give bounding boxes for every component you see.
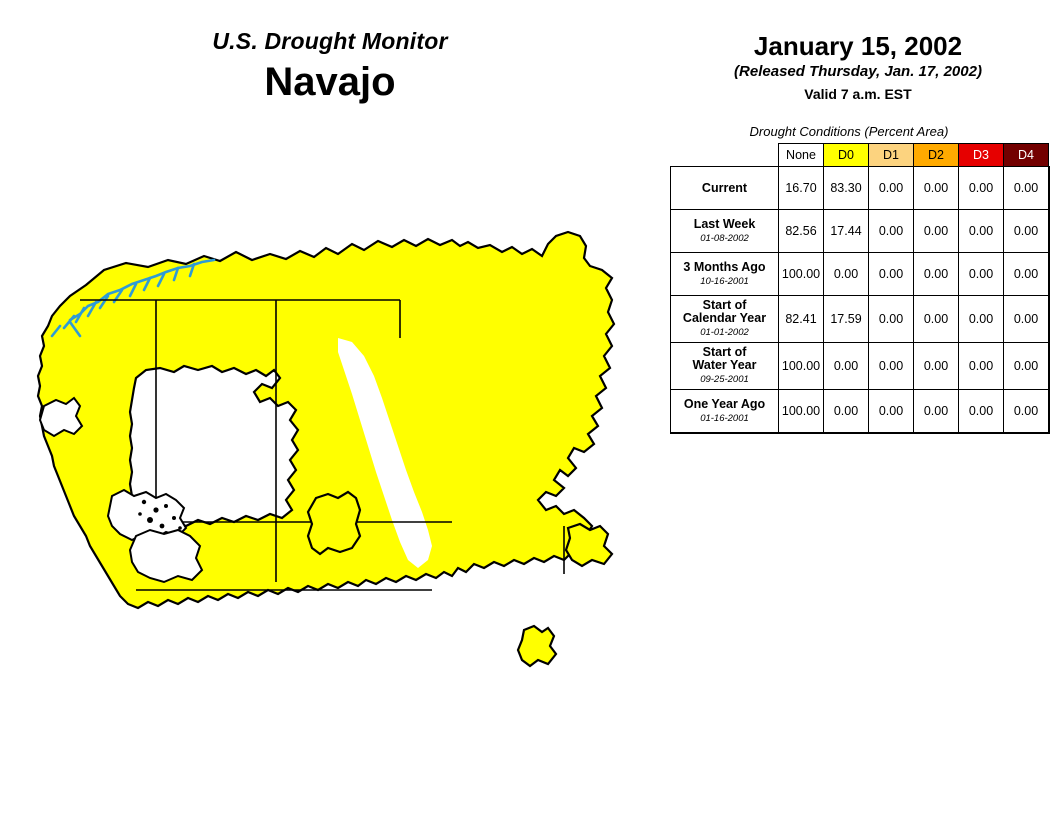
- table-cell-d4: 0.00: [1004, 390, 1049, 433]
- table-col-header-d3: D3: [959, 144, 1004, 167]
- row-label-text: Last Week: [676, 218, 773, 231]
- table-cell-d1: 0.00: [869, 210, 914, 253]
- table-cell-d2: 0.00: [914, 296, 959, 343]
- table-cell-d3: 0.00: [959, 343, 1004, 390]
- table-col-header-d1: D1: [869, 144, 914, 167]
- row-label-date: 10-16-2001: [676, 275, 773, 288]
- row-label-text: Current: [676, 182, 773, 195]
- speckle: [178, 526, 182, 530]
- table-cell-d1: 0.00: [869, 343, 914, 390]
- table-cell-d3: 0.00: [959, 253, 1004, 296]
- table-col-header-d0: D0: [824, 144, 869, 167]
- parcel-ramah-d0: [566, 524, 612, 566]
- table-row-label: Current: [671, 167, 779, 210]
- table-cell-d2: 0.00: [914, 253, 959, 296]
- table-cell-d1: 0.00: [869, 296, 914, 343]
- speckle: [172, 516, 176, 520]
- table-row: Start ofWater Year09-25-2001100.000.000.…: [671, 343, 1049, 390]
- speckle: [153, 507, 158, 512]
- table-cell-d0: 83.30: [824, 167, 869, 210]
- title-block: U.S. Drought Monitor Navajo: [0, 26, 660, 106]
- speckle: [160, 524, 165, 529]
- table-row-label: Start ofWater Year09-25-2001: [671, 343, 779, 390]
- table-cell-none: 82.41: [779, 296, 824, 343]
- table-row: Last Week01-08-200282.5617.440.000.000.0…: [671, 210, 1049, 253]
- table-cell-none: 16.70: [779, 167, 824, 210]
- table-cell-d2: 0.00: [914, 167, 959, 210]
- table-cell-d0: 0.00: [824, 343, 869, 390]
- table-cell-d4: 0.00: [1004, 296, 1049, 343]
- table-cell-none: 82.56: [779, 210, 824, 253]
- map-svg: [8, 230, 652, 690]
- table-corner-cell: [671, 144, 779, 167]
- parcel-alamo-d0: [308, 492, 360, 554]
- row-label-date: 09-25-2001: [676, 373, 773, 386]
- table-cell-d4: 0.00: [1004, 210, 1049, 253]
- table-cell-d0: 0.00: [824, 390, 869, 433]
- table-cell-d4: 0.00: [1004, 167, 1049, 210]
- table-row-label: 3 Months Ago10-16-2001: [671, 253, 779, 296]
- info-panel: January 15, 2002 (Released Thursday, Jan…: [660, 0, 1056, 816]
- row-label-date: 01-16-2001: [676, 412, 773, 425]
- table-cell-d3: 0.00: [959, 167, 1004, 210]
- table-row: Start ofCalendar Year01-01-200282.4117.5…: [671, 296, 1049, 343]
- table-row-label: One Year Ago01-16-2001: [671, 390, 779, 433]
- drought-map[interactable]: [8, 230, 652, 690]
- table-cell-d2: 0.00: [914, 343, 959, 390]
- valid-date: January 15, 2002: [660, 30, 1056, 62]
- speckle: [142, 500, 146, 504]
- row-label-text: 3 Months Ago: [676, 261, 773, 274]
- parcel-white-outline-2: [130, 530, 202, 582]
- table-cell-d2: 0.00: [914, 210, 959, 253]
- table-cell-d3: 0.00: [959, 390, 1004, 433]
- date-block: January 15, 2002 (Released Thursday, Jan…: [660, 30, 1056, 104]
- page-title: U.S. Drought Monitor: [0, 26, 660, 56]
- table-col-header-d2: D2: [914, 144, 959, 167]
- table-cell-d0: 17.59: [824, 296, 869, 343]
- table-row-label: Last Week01-08-2002: [671, 210, 779, 253]
- table-cell-d4: 0.00: [1004, 253, 1049, 296]
- table-cell-d0: 17.44: [824, 210, 869, 253]
- valid-time: Valid 7 a.m. EST: [660, 84, 1056, 104]
- drought-conditions-table: NoneD0D1D2D3D4 Current16.7083.300.000.00…: [670, 143, 1049, 433]
- table-row: Current16.7083.300.000.000.000.00: [671, 167, 1049, 210]
- release-date: (Released Thursday, Jan. 17, 2002): [660, 62, 1056, 82]
- table-head: NoneD0D1D2D3D4: [671, 144, 1049, 167]
- table-cell-none: 100.00: [779, 253, 824, 296]
- speckle: [138, 512, 142, 516]
- table-row: One Year Ago01-16-2001100.000.000.000.00…: [671, 390, 1049, 433]
- row-label-text: Start ofCalendar Year: [676, 299, 773, 325]
- table-cell-d2: 0.00: [914, 390, 959, 433]
- table-cell-d0: 0.00: [824, 253, 869, 296]
- table-caption: Drought Conditions (Percent Area): [660, 124, 1038, 139]
- row-label-date: 01-01-2002: [676, 326, 773, 339]
- table-header-row: NoneD0D1D2D3D4: [671, 144, 1049, 167]
- table-cell-d4: 0.00: [1004, 343, 1049, 390]
- map-panel: U.S. Drought Monitor Navajo: [0, 0, 660, 816]
- row-label-text: One Year Ago: [676, 398, 773, 411]
- table-cell-d3: 0.00: [959, 210, 1004, 253]
- row-label-date: 01-08-2002: [676, 232, 773, 245]
- speckle: [164, 504, 168, 508]
- table-body: Current16.7083.300.000.000.000.00Last We…: [671, 167, 1049, 433]
- table-cell-d1: 0.00: [869, 167, 914, 210]
- table-cell-d3: 0.00: [959, 296, 1004, 343]
- table-col-header-d4: D4: [1004, 144, 1049, 167]
- region-title: Navajo: [0, 58, 660, 106]
- table-cell-none: 100.00: [779, 390, 824, 433]
- table-col-header-none: None: [779, 144, 824, 167]
- table-row: 3 Months Ago10-16-2001100.000.000.000.00…: [671, 253, 1049, 296]
- table-row-label: Start ofCalendar Year01-01-2002: [671, 296, 779, 343]
- parcel-tohajiilee-d0: [518, 626, 556, 666]
- speckle: [147, 517, 153, 523]
- table-cell-d1: 0.00: [869, 390, 914, 433]
- row-label-text: Start ofWater Year: [676, 346, 773, 372]
- table-cell-none: 100.00: [779, 343, 824, 390]
- table-cell-d1: 0.00: [869, 253, 914, 296]
